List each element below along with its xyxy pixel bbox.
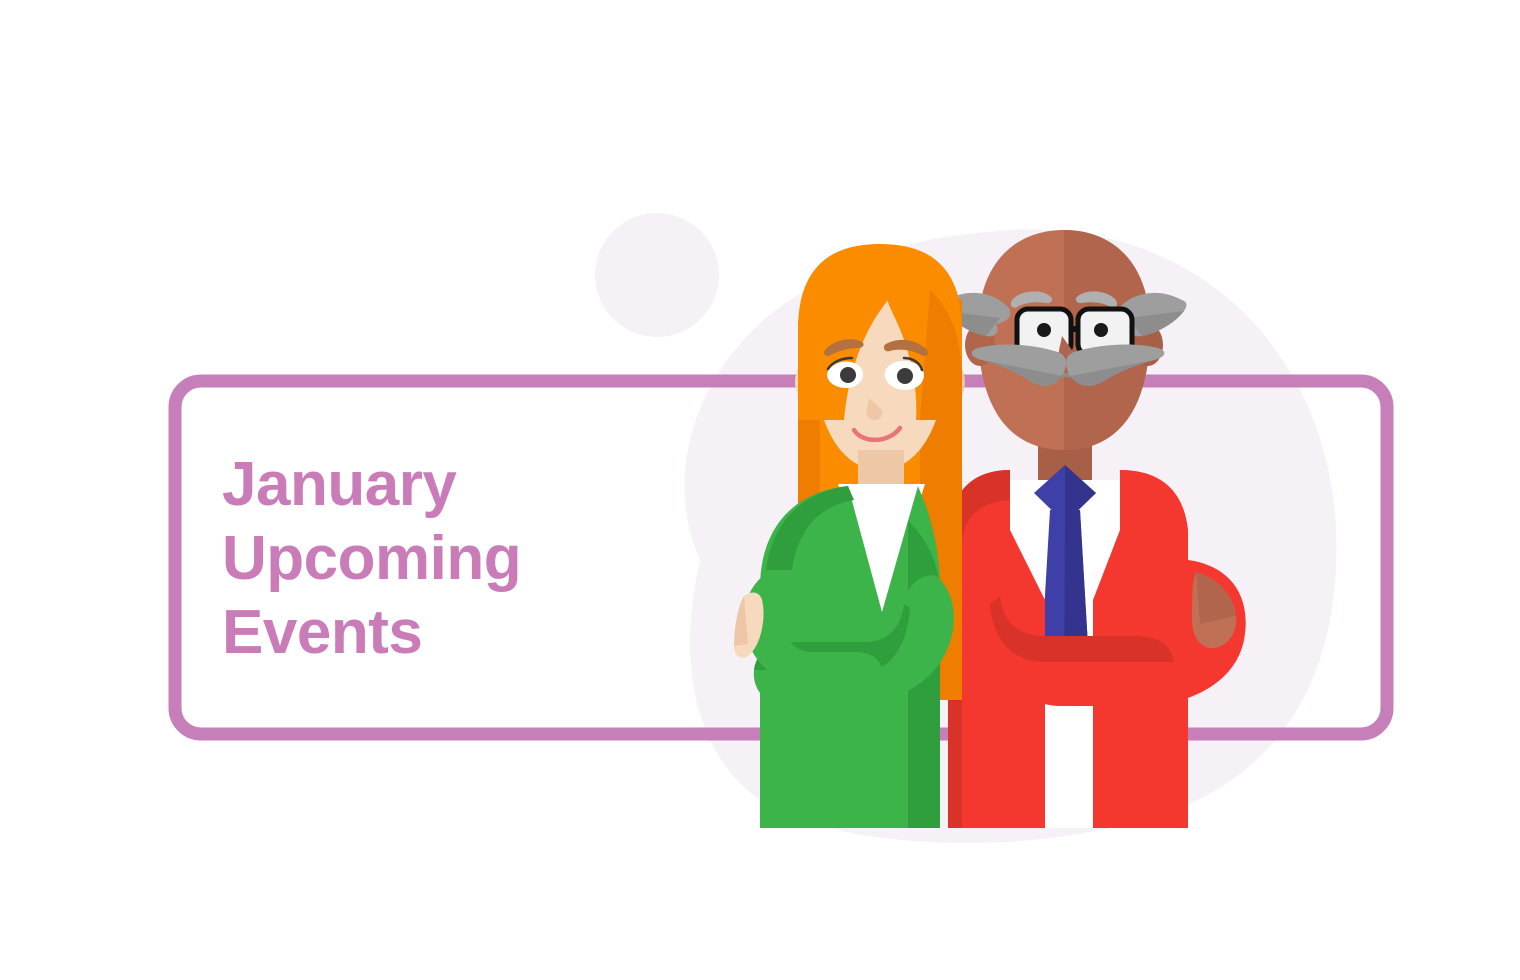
illustration-banner: January Upcoming Events [0, 0, 1520, 980]
man-pupil-right [1094, 323, 1108, 337]
man-character [928, 230, 1246, 828]
man-pupil-left [1037, 323, 1051, 337]
woman-character [734, 244, 965, 828]
characters-layer [0, 0, 1520, 980]
woman-pupil-right [897, 368, 913, 384]
woman-pupil-left [840, 367, 856, 383]
